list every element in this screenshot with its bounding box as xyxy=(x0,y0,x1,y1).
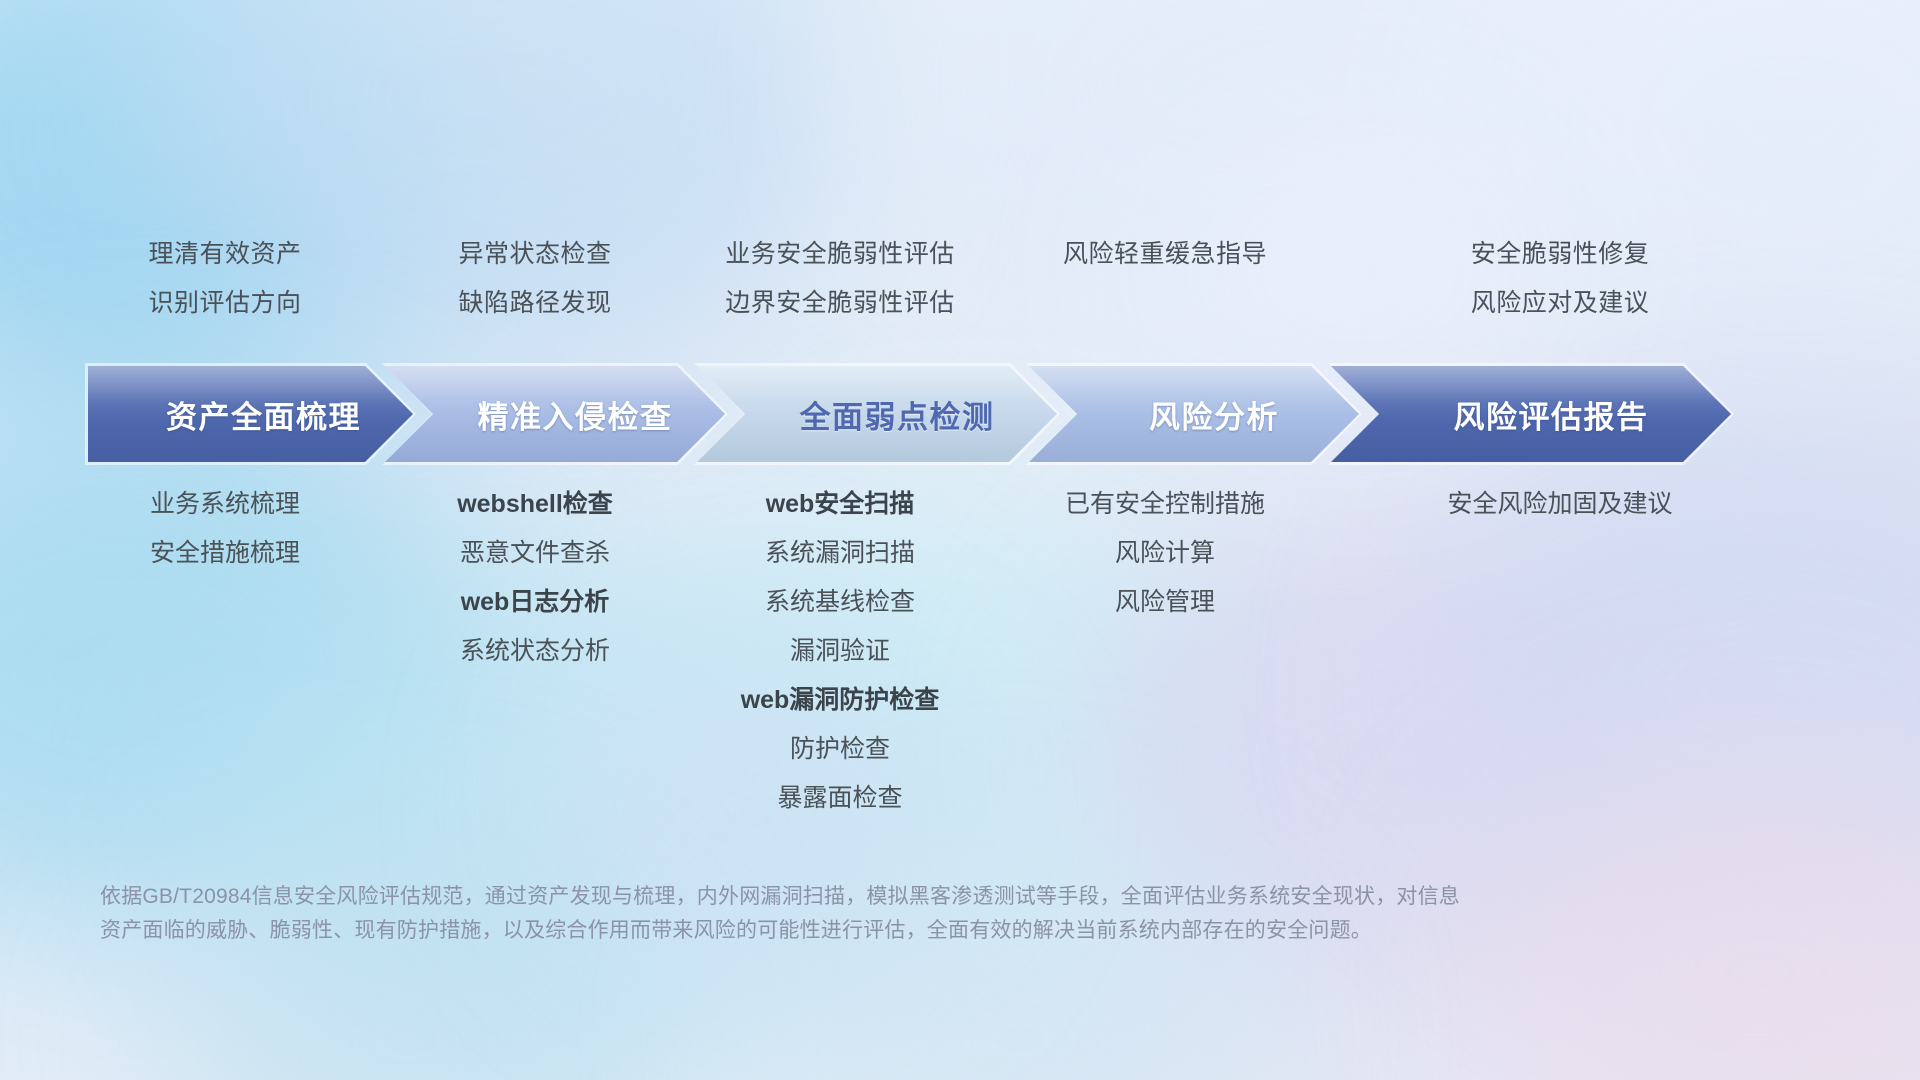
bottom-label-item: 系统漏洞扫描 xyxy=(660,529,1020,578)
bottom-label-emphasis: web漏洞防护检查 xyxy=(741,686,940,714)
top-label-item: 风险应对及建议 xyxy=(1390,279,1730,328)
bottom-label-emphasis: web安全扫描 xyxy=(766,490,915,518)
stage-chevron-weakness-detection[interactable]: 全面弱点检测 xyxy=(697,366,1057,462)
bottom-label-item: 系统状态分析 xyxy=(375,627,695,676)
stage-chevron-label: 精准入侵检查 xyxy=(438,392,673,437)
stage-chevron-label: 风险分析 xyxy=(1109,392,1279,437)
bottom-label-item: web安全扫描 xyxy=(660,480,1020,529)
footer-line: 依据GB/T20984信息安全风险评估规范，通过资产发现与梳理，内外网漏洞扫描，… xyxy=(100,880,1660,914)
stage-chevron-label: 全面弱点检测 xyxy=(760,392,995,437)
bottom-labels-risk-analysis: 已有安全控制措施 风险计算 风险管理 xyxy=(1000,480,1330,627)
bottom-label-item: 暴露面检查 xyxy=(660,774,1020,823)
stage-chevron-intrusion-check[interactable]: 精准入侵检查 xyxy=(385,366,725,462)
bottom-label-item: web漏洞防护检查 xyxy=(660,676,1020,725)
top-label-item: 安全脆弱性修复 xyxy=(1390,230,1730,279)
bottom-labels-asset-review: 业务系统梳理 安全措施梳理 xyxy=(60,480,390,578)
bottom-label-item: webshell检查 xyxy=(375,480,695,529)
bottom-label-item: 已有安全控制措施 xyxy=(1000,480,1330,529)
top-label-item: 缺陷路径发现 xyxy=(375,279,695,328)
top-labels-risk-analysis: 风险轻重缓急指导 xyxy=(1000,230,1330,279)
stage-chevron-risk-report[interactable]: 风险评估报告 xyxy=(1331,366,1731,462)
bottom-label-item: web日志分析 xyxy=(375,578,695,627)
bottom-label-item: 风险计算 xyxy=(1000,529,1330,578)
top-label-item: 业务安全脆弱性评估 xyxy=(660,230,1020,279)
bottom-label-item: 防护检查 xyxy=(660,725,1020,774)
footer-description: 依据GB/T20984信息安全风险评估规范，通过资产发现与梳理，内外网漏洞扫描，… xyxy=(100,880,1660,948)
bottom-label-item: 系统基线检查 xyxy=(660,578,1020,627)
bottom-label-emphasis: web日志分析 xyxy=(461,588,610,616)
stage-chevron-asset-review[interactable]: 资产全面梳理 xyxy=(88,366,413,462)
footer-line: 资产面临的威胁、脆弱性、现有防护措施，以及综合作用而带来风险的可能性进行评估，全… xyxy=(100,914,1660,948)
bottom-label-item: 风险管理 xyxy=(1000,578,1330,627)
bottom-label-item: 安全风险加固及建议 xyxy=(1390,480,1730,529)
bottom-label-item: 安全措施梳理 xyxy=(60,529,390,578)
top-label-item: 异常状态检查 xyxy=(375,230,695,279)
bottom-label-item: 恶意文件查杀 xyxy=(375,529,695,578)
top-labels-risk-report: 安全脆弱性修复 风险应对及建议 xyxy=(1390,230,1730,328)
stage-chevron-band: 资产全面梳理 精准入侵检查 全面弱点检测 风险分析 风险评估报告 xyxy=(0,366,1920,462)
stage-chevron-label: 资产全面梳理 xyxy=(140,392,361,437)
top-label-item: 风险轻重缓急指导 xyxy=(1000,230,1330,279)
top-label-item: 边界安全脆弱性评估 xyxy=(660,279,1020,328)
bottom-label-emphasis: webshell检查 xyxy=(457,490,613,518)
top-labels-weakness-detection: 业务安全脆弱性评估 边界安全脆弱性评估 xyxy=(660,230,1020,328)
top-label-item: 识别评估方向 xyxy=(60,279,390,328)
process-flow-diagram: 理清有效资产 识别评估方向 异常状态检查 缺陷路径发现 业务安全脆弱性评估 边界… xyxy=(0,0,1920,1080)
bottom-labels-risk-report: 安全风险加固及建议 xyxy=(1390,480,1730,529)
bottom-labels-weakness-detection: web安全扫描 系统漏洞扫描 系统基线检查 漏洞验证 web漏洞防护检查 防护检… xyxy=(660,480,1020,823)
top-labels-asset-review: 理清有效资产 识别评估方向 xyxy=(60,230,390,328)
stage-chevron-risk-analysis[interactable]: 风险分析 xyxy=(1029,366,1359,462)
bottom-label-item: 业务系统梳理 xyxy=(60,480,390,529)
bottom-label-item: 漏洞验证 xyxy=(660,627,1020,676)
bottom-labels-intrusion-check: webshell检查 恶意文件查杀 web日志分析 系统状态分析 xyxy=(375,480,695,676)
top-labels-intrusion-check: 异常状态检查 缺陷路径发现 xyxy=(375,230,695,328)
top-labels-row: 理清有效资产 识别评估方向 异常状态检查 缺陷路径发现 业务安全脆弱性评估 边界… xyxy=(0,230,1920,340)
stage-chevron-label: 风险评估报告 xyxy=(1414,392,1649,437)
top-label-item: 理清有效资产 xyxy=(60,230,390,279)
